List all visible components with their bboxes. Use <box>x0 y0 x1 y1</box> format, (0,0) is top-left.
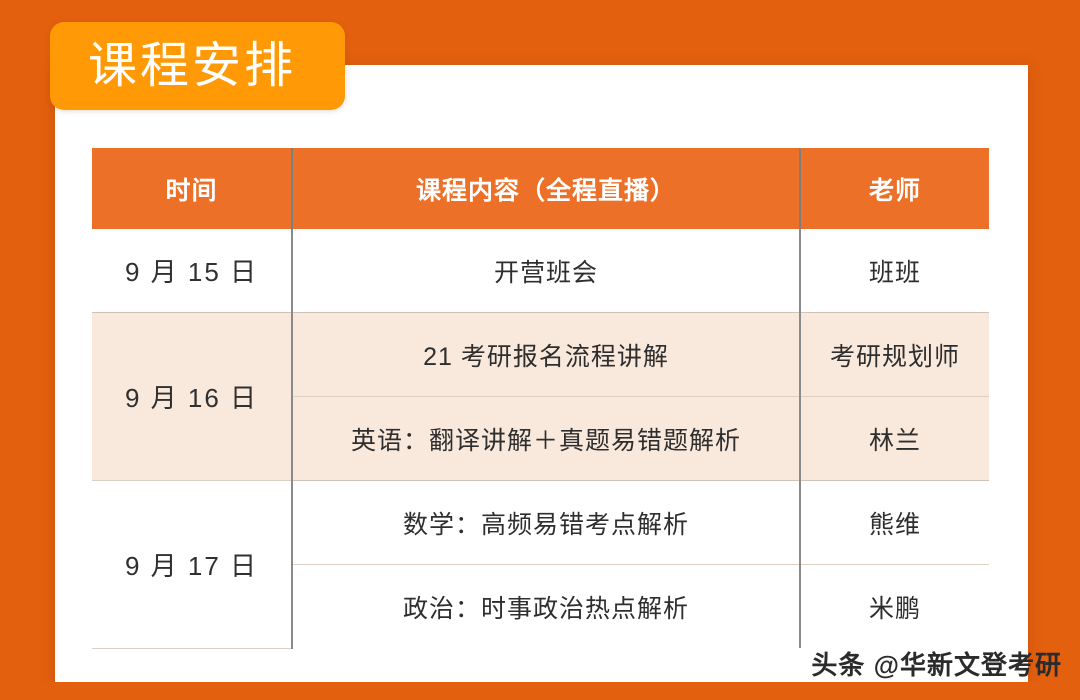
table-header: 时间 课程内容（全程直播） 老师 <box>92 148 989 229</box>
cell-course-content: 数学：高频易错考点解析 <box>292 481 800 565</box>
cell-date: 9 月 16 日 <box>92 313 292 481</box>
table-header-row: 时间 课程内容（全程直播） 老师 <box>92 148 989 229</box>
cell-course-content: 英语：翻译讲解＋真题易错题解析 <box>292 397 800 481</box>
watermark-label: 头条 @华新文登考研 <box>811 645 1062 682</box>
page-title: 课程安排 <box>50 42 296 91</box>
poster-background: 课程安排 时间 课程内容（全程直播） 老师 9 月 15 日开营班会班班9 月 … <box>0 0 1080 700</box>
title-badge: 课程安排 <box>50 22 345 110</box>
cell-course-content: 21 考研报名流程讲解 <box>292 313 800 397</box>
cell-date: 9 月 15 日 <box>92 229 292 313</box>
table-row: 9 月 17 日数学：高频易错考点解析熊维 <box>92 481 989 565</box>
table-row: 9 月 16 日21 考研报名流程讲解考研规划师 <box>92 313 989 397</box>
cell-teacher: 林兰 <box>800 397 989 481</box>
bottom-strip <box>0 682 1080 700</box>
cell-teacher: 班班 <box>800 229 989 313</box>
column-header-time: 时间 <box>92 148 292 229</box>
cell-date: 9 月 17 日 <box>92 481 292 649</box>
table-body: 9 月 15 日开营班会班班9 月 16 日21 考研报名流程讲解考研规划师英语… <box>92 229 989 648</box>
table-row: 9 月 15 日开营班会班班 <box>92 229 989 313</box>
cell-teacher: 熊维 <box>800 481 989 565</box>
cell-teacher: 米鹏 <box>800 565 989 649</box>
column-header-teacher: 老师 <box>800 148 989 229</box>
cell-course-content: 政治：时事政治热点解析 <box>292 565 800 649</box>
cell-teacher: 考研规划师 <box>800 313 989 397</box>
cell-course-content: 开营班会 <box>292 229 800 313</box>
course-schedule-table: 时间 课程内容（全程直播） 老师 9 月 15 日开营班会班班9 月 16 日2… <box>92 148 989 649</box>
column-header-content: 课程内容（全程直播） <box>292 148 800 229</box>
